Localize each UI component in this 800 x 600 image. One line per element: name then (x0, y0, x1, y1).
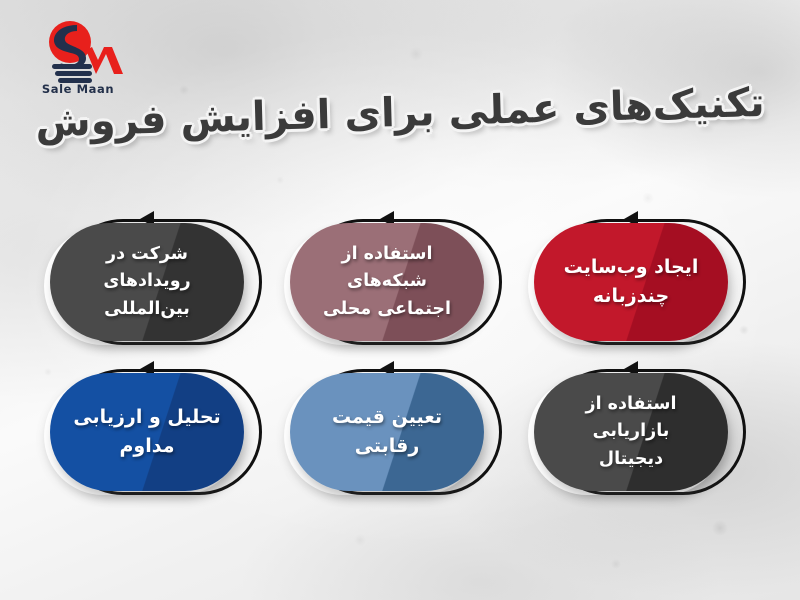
card-label: تعیین قیمت رقابتی (318, 403, 456, 462)
technique-card-multilingual-website[interactable]: ایجاد وب‌سایت چندزبانه (528, 219, 740, 347)
technique-card-continuous-analysis[interactable]: تحلیل و ارزیابی مداوم (44, 369, 256, 497)
technique-card-digital-marketing[interactable]: استفاده از بازاریابی دیجیتال (528, 369, 740, 497)
technique-card-competitive-pricing[interactable]: تعیین قیمت رقابتی (284, 369, 496, 497)
card-body: شرکت در رویدادهای بین‌المللی (50, 223, 244, 341)
card-body: ایجاد وب‌سایت چندزبانه (534, 223, 728, 341)
card-label: ایجاد وب‌سایت چندزبانه (550, 253, 713, 312)
technique-card-local-social-networks[interactable]: استفاده از شبکه‌های اجتماعی محلی (284, 219, 496, 347)
card-body: استفاده از شبکه‌های اجتماعی محلی (290, 223, 484, 341)
technique-card-grid: شرکت در رویدادهای بین‌المللی استفاده از … (0, 0, 800, 600)
card-label: شرکت در رویدادهای بین‌المللی (50, 241, 244, 322)
card-label: استفاده از شبکه‌های اجتماعی محلی (290, 241, 484, 322)
card-label: استفاده از بازاریابی دیجیتال (534, 391, 728, 472)
card-label: تحلیل و ارزیابی مداوم (59, 403, 234, 462)
card-body: استفاده از بازاریابی دیجیتال (534, 373, 728, 491)
infographic-canvas: Sale Maan تکنیک‌های عملی برای افزایش فرو… (0, 0, 800, 600)
card-body: تحلیل و ارزیابی مداوم (50, 373, 244, 491)
technique-card-international-events[interactable]: شرکت در رویدادهای بین‌المللی (44, 219, 256, 347)
card-body: تعیین قیمت رقابتی (290, 373, 484, 491)
